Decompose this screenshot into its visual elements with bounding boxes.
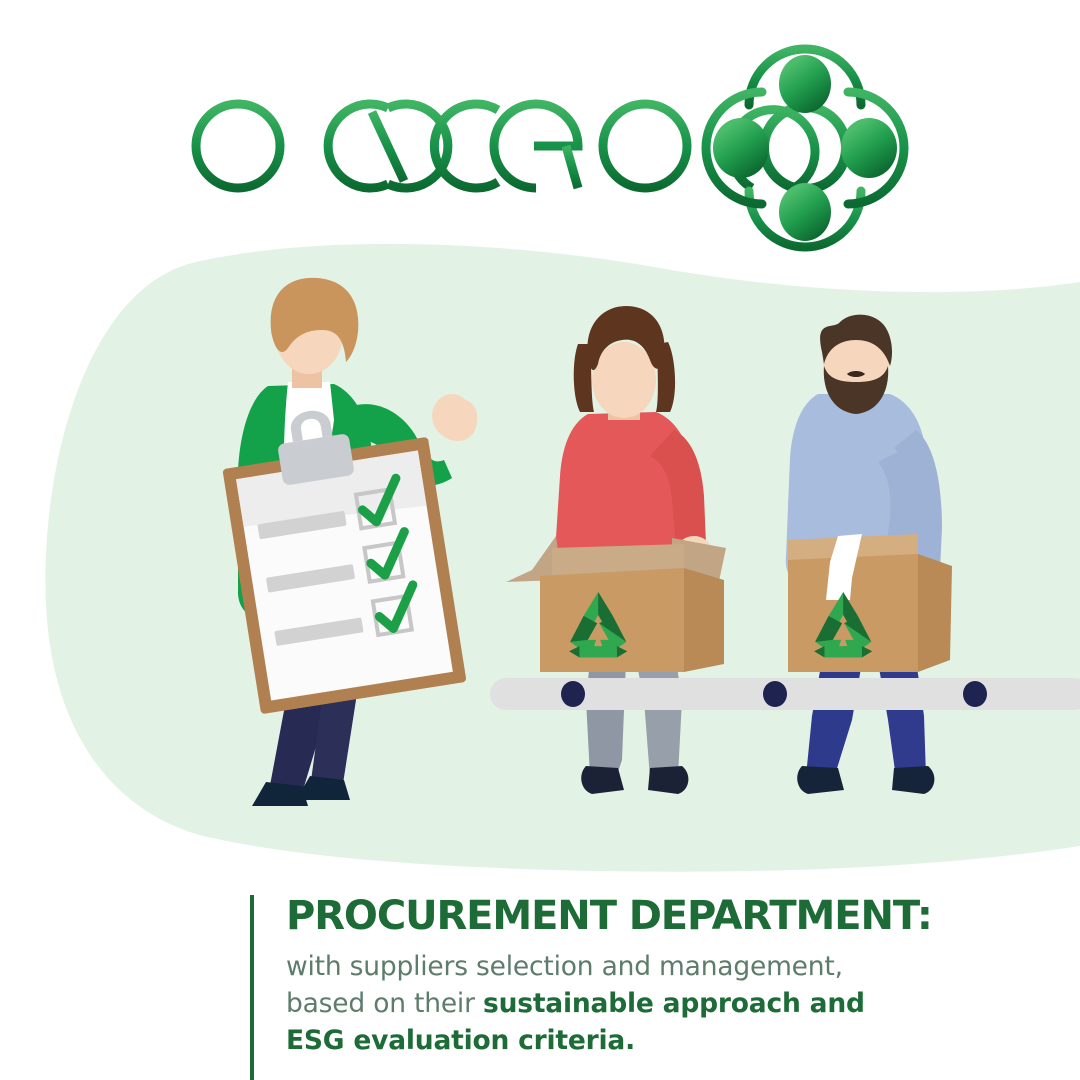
caption-divider-rule	[250, 895, 254, 1080]
poster-canvas: PROCUREMENT DEPARTMENT: with suppliers s…	[0, 0, 1080, 1080]
brand-logo[interactable]	[196, 49, 904, 247]
man-shoe-front	[892, 766, 934, 794]
man-shoe-back	[797, 766, 844, 794]
caption-line-1: with suppliers selection and management,	[286, 951, 843, 982]
page-title-text: PROCUREMENT DEPARTMENT	[286, 893, 917, 939]
sealed-box-side	[918, 554, 952, 672]
caption-line-2-plain: based on their	[286, 988, 483, 1019]
belt-roller	[561, 681, 585, 707]
box-side	[684, 568, 724, 672]
belt-roller	[763, 681, 787, 707]
belt-roller	[963, 681, 987, 707]
caption-body: with suppliers selection and management,…	[286, 948, 926, 1059]
woman-leg-back	[586, 660, 626, 778]
four-spheres-cross-icon	[706, 49, 904, 247]
page-title: PROCUREMENT DEPARTMENT:	[286, 893, 932, 939]
caption-line-3-bold: ESG evaluation criteria.	[286, 1025, 635, 1056]
conveyor-belt	[490, 678, 1080, 710]
caption-block: PROCUREMENT DEPARTMENT: with suppliers s…	[250, 893, 1030, 1080]
caption-line-2-bold: sustainable approach and	[483, 988, 865, 1019]
woman-shoe-back	[581, 766, 624, 794]
page-title-colon: :	[917, 893, 932, 939]
woman-shoe-front	[648, 766, 688, 794]
